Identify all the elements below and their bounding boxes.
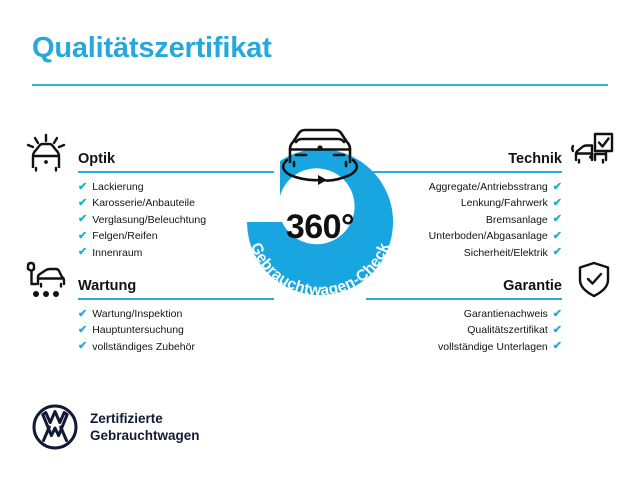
footer-brand-text: Zertifizierte Gebrauchtwagen	[90, 410, 200, 444]
title-divider	[32, 84, 608, 86]
check-icon: ✔	[78, 341, 87, 352]
list-item-label: Verglasung/Beleuchtung	[92, 212, 206, 228]
car-shine-icon	[24, 132, 68, 172]
list-item-label: Unterboden/Abgasanlage	[429, 228, 548, 244]
check-icon: ✔	[553, 309, 562, 320]
footer-brand: Zertifizierte Gebrauchtwagen	[32, 404, 200, 450]
footer-line-2: Gebrauchtwagen	[90, 427, 200, 444]
footer-line-1: Zertifizierte	[90, 410, 200, 427]
car-checkbox-icon	[570, 132, 614, 172]
list-item-label: Lenkung/Fahrwerk	[461, 195, 548, 211]
check-icon: ✔	[78, 231, 87, 242]
badge-degrees: 360°	[225, 208, 415, 247]
list-item: Garantienachweis ✔	[438, 306, 562, 322]
list-item: Aggregate/Antriebsstrang ✔	[429, 179, 562, 195]
list-item: vollständige Unterlagen ✔	[438, 339, 562, 355]
check-icon: ✔	[78, 198, 87, 209]
list-item: ✔ Innenraum	[78, 245, 206, 261]
section-list-garantie: Garantienachweis ✔ Qualitätszertifikat ✔…	[438, 306, 562, 355]
wrench-car-icon	[24, 260, 68, 300]
check-icon: ✔	[553, 198, 562, 209]
list-item-label: Felgen/Reifen	[92, 228, 157, 244]
list-item-label: Lackierung	[92, 179, 143, 195]
check-icon: ✔	[553, 325, 562, 336]
section-title-wartung: Wartung	[78, 278, 136, 294]
check-icon: ✔	[553, 231, 562, 242]
qualitaetszertifikat-page: Qualitätszertifikat Optik ✔ Lackierung ✔…	[0, 0, 640, 480]
check-icon: ✔	[553, 247, 562, 258]
check-icon: ✔	[78, 325, 87, 336]
list-item: Qualitätszertifikat ✔	[438, 322, 562, 338]
section-title-optik: Optik	[78, 151, 115, 167]
check-icon: ✔	[78, 182, 87, 193]
section-list-technik: Aggregate/Antriebsstrang ✔ Lenkung/Fahrw…	[429, 179, 562, 261]
section-list-wartung: ✔ Wartung/Inspektion ✔ Hauptuntersuchung…	[78, 306, 195, 355]
check-icon: ✔	[553, 341, 562, 352]
list-item-label: vollständige Unterlagen	[438, 339, 548, 355]
list-item: Bremsanlage ✔	[429, 212, 562, 228]
list-item-label: Hauptuntersuchung	[92, 322, 184, 338]
vw-logo	[32, 404, 78, 450]
list-item: Lenkung/Fahrwerk ✔	[429, 195, 562, 211]
list-item: ✔ vollständiges Zubehör	[78, 339, 195, 355]
list-item-label: vollständiges Zubehör	[92, 339, 195, 355]
check-icon: ✔	[553, 214, 562, 225]
check-icon: ✔	[553, 182, 562, 193]
list-item: Unterboden/Abgasanlage ✔	[429, 228, 562, 244]
list-item-label: Innenraum	[92, 245, 142, 261]
list-item: ✔ Felgen/Reifen	[78, 228, 206, 244]
shield-check-icon	[572, 260, 616, 300]
list-item: ✔ Wartung/Inspektion	[78, 306, 195, 322]
list-item: ✔ Lackierung	[78, 179, 206, 195]
list-item-label: Wartung/Inspektion	[92, 306, 182, 322]
list-item: ✔ Verglasung/Beleuchtung	[78, 212, 206, 228]
check-icon: ✔	[78, 247, 87, 258]
list-item-label: Qualitätszertifikat	[467, 322, 548, 338]
list-item-label: Aggregate/Antriebsstrang	[429, 179, 548, 195]
badge-360-gebrauchtwagen-check: Gebrauchtwagen-Check	[225, 118, 415, 318]
check-icon: ✔	[78, 214, 87, 225]
section-title-technik: Technik	[508, 151, 562, 167]
list-item: Sicherheit/Elektrik ✔	[429, 245, 562, 261]
section-list-optik: ✔ Lackierung ✔ Karosserie/Anbauteile ✔ V…	[78, 179, 206, 261]
list-item-label: Sicherheit/Elektrik	[464, 245, 548, 261]
list-item-label: Garantienachweis	[464, 306, 548, 322]
page-title: Qualitätszertifikat	[32, 32, 272, 65]
list-item: ✔ Hauptuntersuchung	[78, 322, 195, 338]
list-item-label: Karosserie/Anbauteile	[92, 195, 195, 211]
check-icon: ✔	[78, 309, 87, 320]
section-title-garantie: Garantie	[503, 278, 562, 294]
list-item: ✔ Karosserie/Anbauteile	[78, 195, 206, 211]
list-item-label: Bremsanlage	[486, 212, 548, 228]
